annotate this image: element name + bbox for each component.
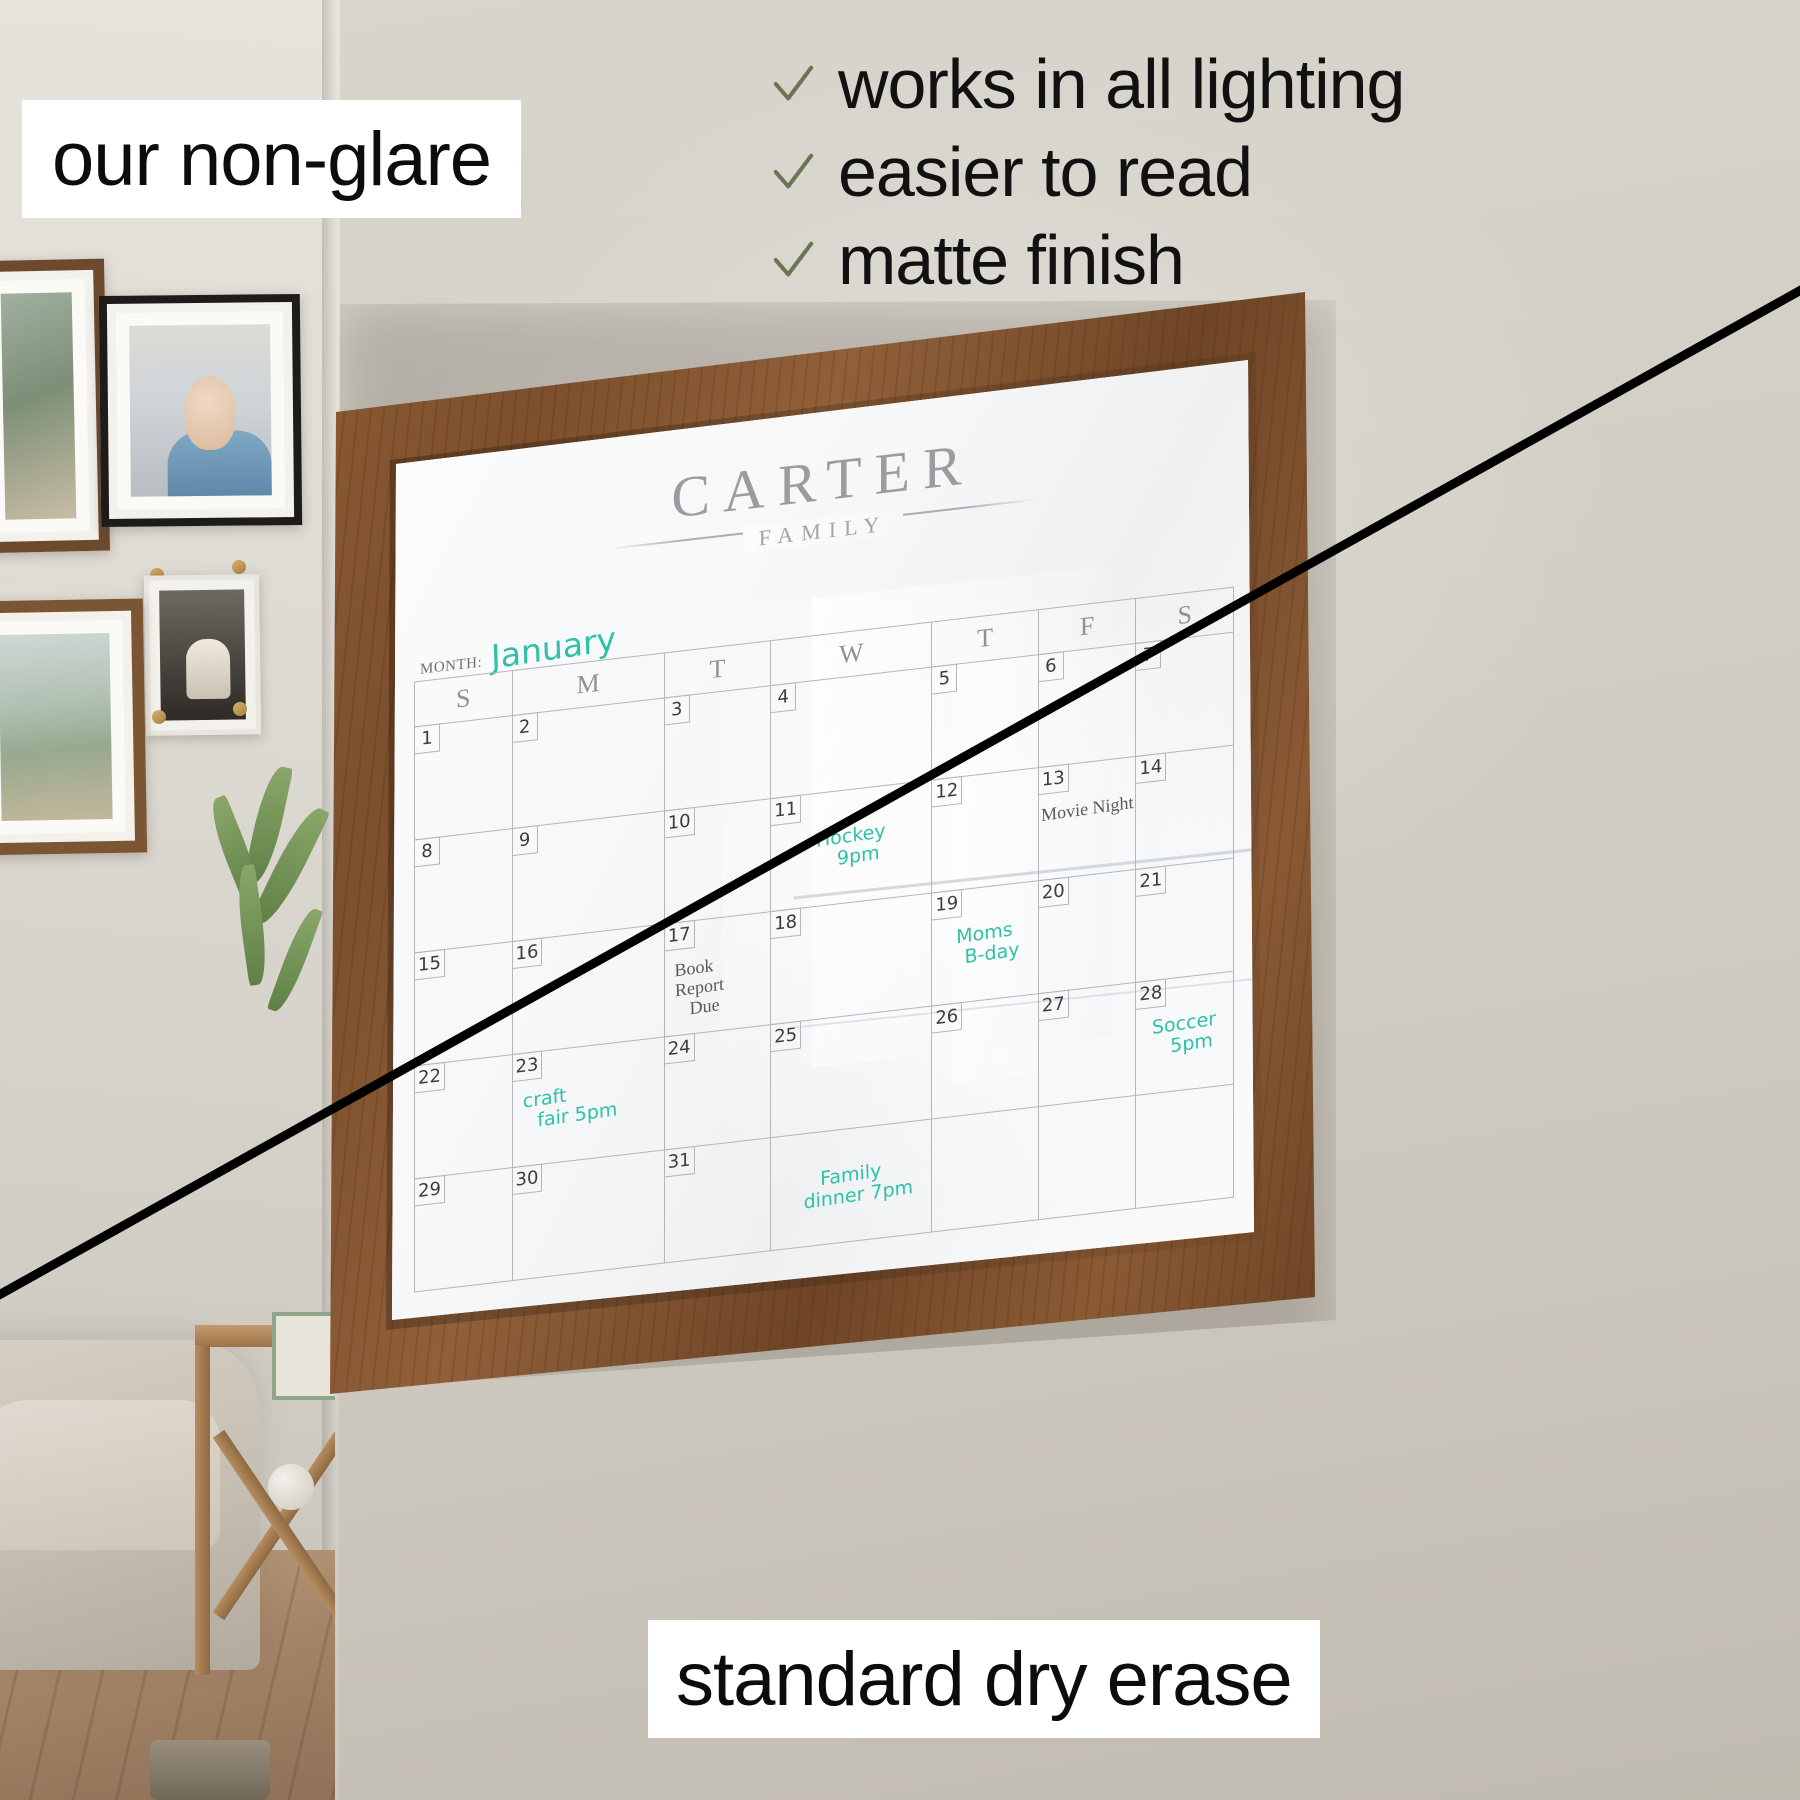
calendar-cell[interactable]: 13Movie Night <box>1038 756 1136 880</box>
calendar-cell[interactable]: 3 <box>664 686 771 811</box>
calendar-cell[interactable] <box>1136 1084 1234 1208</box>
calendar-cell[interactable]: 31 <box>664 1138 771 1263</box>
day-number: 7 <box>1135 640 1161 671</box>
calendar-event-handwritten: Book ReportDue <box>674 948 765 1021</box>
calendar-cell[interactable]: 15 <box>415 942 513 1066</box>
whiteboard-surface: CARTER FAMILY MONTH: January SMTWTFS 123… <box>392 352 1254 1320</box>
feature-bullet-2: matte finish <box>770 216 1404 304</box>
feature-bullet-1: easier to read <box>770 128 1404 216</box>
calendar-cell[interactable]: Familydinner 7pm <box>771 1119 932 1251</box>
day-number: 12 <box>931 776 962 808</box>
day-number: 2 <box>512 712 538 743</box>
day-number: 20 <box>1038 877 1069 909</box>
feature-bullet-text-2: matte finish <box>838 225 1184 295</box>
calendar-cell[interactable]: 24 <box>664 1025 771 1150</box>
day-number: 4 <box>770 682 796 713</box>
feature-bullet-text-0: works in all lighting <box>838 49 1404 119</box>
calendar-cell[interactable]: 5 <box>932 655 1039 780</box>
check-icon <box>770 237 816 283</box>
day-number: 11 <box>770 795 801 827</box>
label-standard-dry-erase-text: standard dry erase <box>676 1636 1292 1723</box>
day-number: 8 <box>414 836 440 867</box>
calendar-event-handwritten: Hockey9pm <box>771 814 932 879</box>
day-number: 19 <box>931 889 962 921</box>
calendar-cell[interactable]: 7 <box>1136 632 1234 756</box>
calendar-grid: SMTWTFS 1234567891011Hockey9pm1213Movie … <box>414 587 1234 1293</box>
day-number: 14 <box>1135 752 1166 784</box>
calendar-cell[interactable]: 10 <box>664 799 771 924</box>
calendar-cell[interactable]: 18 <box>771 893 932 1025</box>
day-number: 27 <box>1038 990 1069 1022</box>
feature-bullet-0: works in all lighting <box>770 40 1404 128</box>
calendar-cell[interactable]: 19MomsB-day <box>932 881 1039 1006</box>
day-number: 26 <box>931 1002 962 1034</box>
day-number: 13 <box>1038 764 1069 796</box>
day-number: 24 <box>664 1033 695 1065</box>
check-icon <box>770 149 816 195</box>
day-number: 9 <box>512 825 538 856</box>
day-number: 5 <box>931 664 957 695</box>
day-number: 1 <box>414 723 440 754</box>
day-number: 16 <box>512 938 543 970</box>
calendar-cell[interactable]: 6 <box>1038 643 1136 767</box>
check-icon <box>770 61 816 107</box>
calendar-cell[interactable] <box>1038 1095 1136 1219</box>
day-number: 30 <box>512 1164 543 1196</box>
calendar-cell[interactable]: 30 <box>512 1150 664 1281</box>
day-number: 18 <box>770 908 801 940</box>
day-number: 22 <box>414 1062 445 1094</box>
day-number: 17 <box>664 920 695 952</box>
calendar-cell[interactable]: 16 <box>512 924 664 1055</box>
calendar-cell[interactable]: 20 <box>1038 869 1136 993</box>
day-number: 6 <box>1038 651 1064 682</box>
label-standard-dry-erase: standard dry erase <box>648 1620 1320 1738</box>
calendar-cell[interactable]: 21 <box>1136 858 1234 982</box>
day-number: 15 <box>414 949 445 981</box>
day-number: 28 <box>1135 978 1166 1010</box>
calendar-event-handwritten: craftfair 5pm <box>522 1072 658 1134</box>
day-number: 10 <box>664 807 695 839</box>
calendar-cell[interactable]: 28Soccer5pm <box>1136 971 1234 1095</box>
calendar-cell[interactable] <box>932 1107 1039 1232</box>
calendar-cell[interactable]: 17Book ReportDue <box>664 912 771 1037</box>
calendar-event-handwritten: Soccer5pm <box>1136 1006 1234 1062</box>
day-number: 23 <box>512 1051 543 1083</box>
calendar-cell[interactable]: 12 <box>932 768 1039 893</box>
calendar-event-handwritten: Movie Night <box>1039 792 1136 826</box>
feature-bullet-text-1: easier to read <box>838 137 1252 207</box>
calendar-cell[interactable]: 27 <box>1038 982 1136 1106</box>
day-number: 3 <box>664 695 690 726</box>
board-printed-content: CARTER FAMILY MONTH: January SMTWTFS 123… <box>392 352 1254 1320</box>
calendar-cell[interactable]: 29 <box>415 1168 513 1292</box>
calendar-event-handwritten: Familydinner 7pm <box>771 1153 932 1218</box>
calendar-cell[interactable]: 26 <box>932 994 1039 1119</box>
day-number: 31 <box>664 1146 695 1178</box>
calendar-event-handwritten: MomsB-day <box>932 916 1039 974</box>
calendar-cell[interactable]: 23craftfair 5pm <box>512 1037 664 1168</box>
day-number: 25 <box>770 1021 801 1053</box>
calendar-cell[interactable]: 11Hockey9pm <box>771 780 932 912</box>
day-number: 21 <box>1135 865 1166 897</box>
day-number: 29 <box>414 1175 445 1207</box>
calendar-cell[interactable]: 14 <box>1136 745 1234 869</box>
label-non-glare: our non-glare <box>22 100 521 218</box>
label-non-glare-text: our non-glare <box>52 116 491 203</box>
calendar-cell[interactable]: 1 <box>415 716 513 840</box>
calendar-cell[interactable]: 9 <box>512 811 664 942</box>
calendar-cell[interactable]: 22 <box>415 1055 513 1179</box>
product-lifestyle-image: CARTER FAMILY MONTH: January SMTWTFS 123… <box>0 0 1800 1800</box>
feature-bullet-list: works in all lightingeasier to readmatte… <box>770 40 1404 304</box>
calendar-cell[interactable]: 8 <box>415 829 513 953</box>
calendar-cell[interactable]: 25 <box>771 1006 932 1138</box>
calendar-cell[interactable]: 4 <box>771 667 932 799</box>
calendar-cell[interactable]: 2 <box>512 698 664 829</box>
